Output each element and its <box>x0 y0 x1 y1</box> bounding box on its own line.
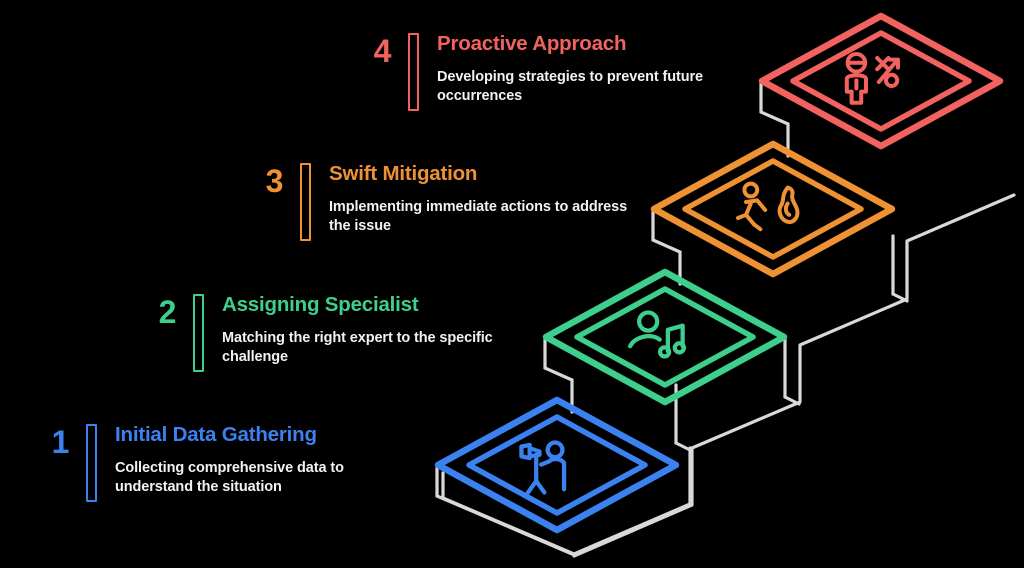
step-accent-bar-4 <box>408 33 419 111</box>
step-description-1: Collecting comprehensive data to underst… <box>115 459 405 498</box>
step-title-3: Swift Mitigation <box>329 163 629 186</box>
staircase-side-outline <box>437 84 1014 556</box>
step-title-1: Initial Data Gathering <box>115 424 405 447</box>
step-number-1: 1 <box>40 424 80 458</box>
step-platform-2 <box>546 272 784 402</box>
step-number-2: 2 <box>147 294 187 328</box>
step-platform-3 <box>654 144 892 274</box>
step-description-3: Implementing immediate actions to addres… <box>329 198 629 237</box>
infographic-canvas: 4 Proactive Approach Developing strategi… <box>0 0 1024 568</box>
step-accent-bar-2 <box>193 294 204 372</box>
step-description-4: Developing strategies to prevent future … <box>437 68 737 107</box>
step-number-4: 4 <box>362 33 402 67</box>
step-platform-1 <box>438 400 676 530</box>
step-text-block-1: 1 Initial Data Gathering Collecting comp… <box>40 424 405 502</box>
step-text-block-3: 3 Swift Mitigation Implementing immediat… <box>254 163 629 241</box>
step-number-3: 3 <box>254 163 294 197</box>
step-accent-bar-3 <box>300 163 311 241</box>
step-description-2: Matching the right expert to the specifi… <box>222 329 512 368</box>
step-text-block-2: 2 Assigning Specialist Matching the righ… <box>147 294 512 372</box>
step-accent-bar-1 <box>86 424 97 502</box>
step-title-4: Proactive Approach <box>437 33 737 56</box>
step-text-block-4: 4 Proactive Approach Developing strategi… <box>362 33 737 111</box>
step-copy-2: Assigning Specialist Matching the right … <box>222 294 512 368</box>
step-copy-1: Initial Data Gathering Collecting compre… <box>115 424 405 498</box>
step-title-2: Assigning Specialist <box>222 294 512 317</box>
step-copy-4: Proactive Approach Developing strategies… <box>437 33 737 107</box>
step-platform-4 <box>762 16 1000 146</box>
step-copy-3: Swift Mitigation Implementing immediate … <box>329 163 629 237</box>
